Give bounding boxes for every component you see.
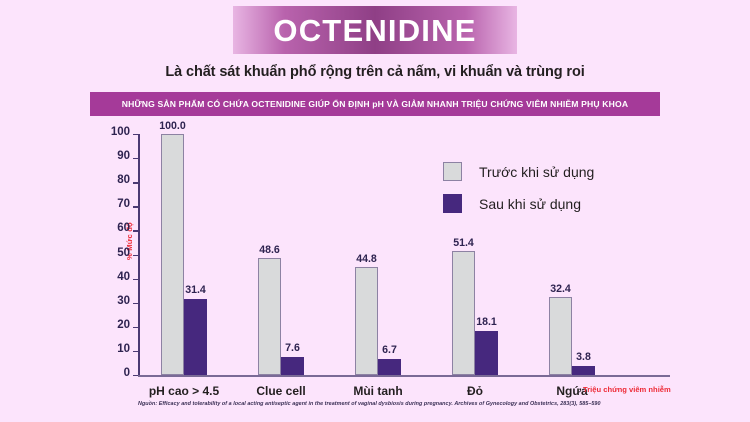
bar-value-label: 6.7 bbox=[382, 344, 397, 356]
y-axis-tick-label: 100 bbox=[111, 126, 130, 138]
bar-before: 32.4 bbox=[549, 297, 572, 375]
y-axis-tick-mark bbox=[133, 327, 138, 328]
bar-before: 48.6 bbox=[258, 258, 281, 375]
x-axis-category-label: Đỏ bbox=[467, 384, 483, 398]
bar-after: 6.7 bbox=[378, 359, 401, 375]
y-axis-tick-label: 80 bbox=[117, 174, 130, 186]
bar-value-label: 3.8 bbox=[576, 351, 591, 363]
y-axis-tick-label: 40 bbox=[117, 271, 130, 283]
y-axis-tick-mark bbox=[133, 230, 138, 231]
bar-after: 18.1 bbox=[475, 331, 498, 375]
y-axis-tick-mark bbox=[133, 351, 138, 352]
title-banner: OCTENIDINE bbox=[233, 6, 517, 54]
y-axis-tick-label: 0 bbox=[124, 367, 130, 379]
bar-value-label: 51.4 bbox=[453, 237, 474, 249]
bar-before: 100.0 bbox=[161, 134, 184, 375]
y-axis-tick-label: 10 bbox=[117, 343, 130, 355]
y-axis-tick-mark bbox=[133, 158, 138, 159]
bar-value-label: 44.8 bbox=[356, 253, 377, 265]
y-axis-tick-label: 90 bbox=[117, 150, 130, 162]
y-axis-tick-mark bbox=[133, 279, 138, 280]
legend-swatch-before-icon bbox=[443, 162, 462, 181]
x-axis-category-label: Clue cell bbox=[256, 384, 305, 398]
callout-banner: NHỮNG SẢN PHẨM CÓ CHỨA OCTENIDINE GIÚP Ổ… bbox=[90, 92, 660, 116]
y-axis-tick-label: 50 bbox=[117, 247, 130, 259]
header: OCTENIDINE Là chất sát khuẩn phổ rộng tr… bbox=[0, 0, 750, 116]
bar-after: 7.6 bbox=[281, 357, 304, 375]
x-axis-category-label: pH cao > 4.5 bbox=[149, 384, 219, 398]
x-axis-line bbox=[138, 375, 670, 377]
y-axis-tick-mark bbox=[133, 375, 138, 376]
x-axis-category-label: Mùi tanh bbox=[353, 384, 402, 398]
y-axis-tick-label: 70 bbox=[117, 198, 130, 210]
bar-value-label: 7.6 bbox=[285, 342, 300, 354]
bar-value-label: 18.1 bbox=[476, 316, 497, 328]
chart-legend: Trước khi sử dụng Sau khi sử dụng bbox=[443, 162, 594, 226]
bar-after: 3.8 bbox=[572, 366, 595, 375]
callout-text: NHỮNG SẢN PHẨM CÓ CHỨA OCTENIDINE GIÚP Ổ… bbox=[122, 99, 628, 109]
y-axis-tick-mark bbox=[133, 182, 138, 183]
y-axis-tick-label: 30 bbox=[117, 295, 130, 307]
legend-swatch-after-icon bbox=[443, 194, 462, 213]
bar-chart: % Mức độ 0102030405060708090100 100.031.… bbox=[0, 126, 750, 422]
y-axis-line bbox=[138, 134, 140, 375]
bar-after: 31.4 bbox=[184, 299, 207, 375]
bar-value-label: 48.6 bbox=[259, 244, 280, 256]
x-axis-title: Triệu chứng viêm nhiễm bbox=[583, 385, 671, 394]
y-axis-tick-label: 60 bbox=[117, 222, 130, 234]
legend-item-after: Sau khi sử dụng bbox=[443, 194, 594, 213]
legend-label-after: Sau khi sử dụng bbox=[479, 196, 581, 212]
y-axis-tick-mark bbox=[133, 303, 138, 304]
page-title: OCTENIDINE bbox=[273, 15, 476, 46]
source-footnote: Nguồn: Efficacy and tolerability of a lo… bbox=[138, 401, 601, 407]
y-axis-tick-mark bbox=[133, 206, 138, 207]
y-axis-tick-label: 20 bbox=[117, 319, 130, 331]
bar-value-label: 32.4 bbox=[550, 283, 571, 295]
bar-before: 44.8 bbox=[355, 267, 378, 375]
legend-label-before: Trước khi sử dụng bbox=[479, 164, 594, 180]
y-axis-tick-mark bbox=[133, 255, 138, 256]
bar-value-label: 31.4 bbox=[185, 284, 206, 296]
bar-before: 51.4 bbox=[452, 251, 475, 375]
subtitle: Là chất sát khuẩn phổ rộng trên cả nấm, … bbox=[0, 64, 750, 80]
legend-item-before: Trước khi sử dụng bbox=[443, 162, 594, 181]
y-axis-tick-mark bbox=[133, 134, 138, 135]
bar-value-label: 100.0 bbox=[159, 120, 186, 132]
